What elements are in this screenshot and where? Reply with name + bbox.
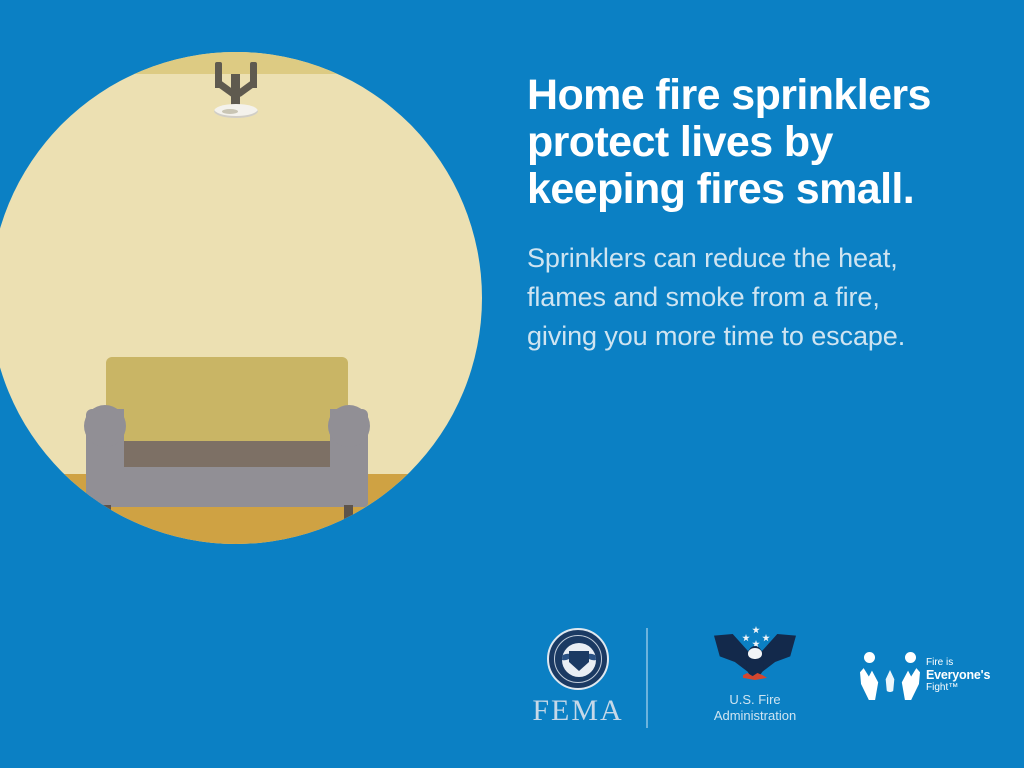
headline-line-3: keeping fires small. [527,166,997,213]
usfa-eagle-head [748,648,762,659]
fief-figure-left [860,658,886,700]
sprinkler-body [231,74,240,108]
fire-sprinkler-icon [206,62,266,120]
dhs-seal-center [562,643,596,677]
fief-wordmark: Fire is Everyone's Fight™ [926,657,990,693]
usfa-stars [738,626,774,646]
fief-figure-right [894,658,920,700]
fief-figures-icon [860,652,920,700]
sofa-base [92,467,362,507]
sofa-illustration [72,357,382,517]
fief-head-left [864,652,875,663]
fief-line-2: Everyone's [926,668,990,682]
subcopy-line-2: flames and smoke from a fire, [527,278,997,317]
usfa-eagle-icon [712,626,798,688]
dhs-seal-icon [547,628,609,690]
safety-poster: Home fire sprinklers protect lives by ke… [0,0,1024,768]
fief-line-3: Fight™ [926,682,990,693]
sprinkler-room-illustration [0,52,482,544]
sofa-arm-cap-right [328,405,370,447]
dhs-shield-icon [569,651,589,671]
sofa-leg-left [102,505,111,529]
fema-wordmark: FEMA [523,696,633,726]
scene-circle [0,52,482,544]
flame-icon [884,670,896,692]
fema-logo: FEMA [523,628,633,726]
sofa-leg-right [344,505,353,529]
sofa-seat-cushion [96,441,358,469]
fief-line-1: Fire is [926,657,990,668]
star-icon-1 [752,626,760,634]
sofa-arm-cap-left [84,405,126,447]
usfa-label-line-1: U.S. Fire [680,692,830,708]
headline: Home fire sprinklers protect lives by ke… [527,72,997,213]
star-icon-2 [742,634,750,642]
headline-line-2: protect lives by [527,119,997,166]
logo-divider [646,628,648,728]
logo-bar: FEMA U.S. Fire Administration [505,622,1010,738]
subcopy: Sprinklers can reduce the heat, flames a… [527,239,997,356]
message-block: Home fire sprinklers protect lives by ke… [527,72,997,356]
star-icon-3 [762,634,770,642]
fief-head-right [905,652,916,663]
subcopy-line-3: giving you more time to escape. [527,317,997,356]
usfa-label: U.S. Fire Administration [680,692,830,725]
subcopy-line-1: Sprinklers can reduce the heat, [527,239,997,278]
usfa-label-line-2: Administration [680,708,830,724]
headline-line-1: Home fire sprinklers [527,72,997,119]
usfa-logo: U.S. Fire Administration [680,626,830,725]
sprinkler-deflector-center [222,109,238,114]
